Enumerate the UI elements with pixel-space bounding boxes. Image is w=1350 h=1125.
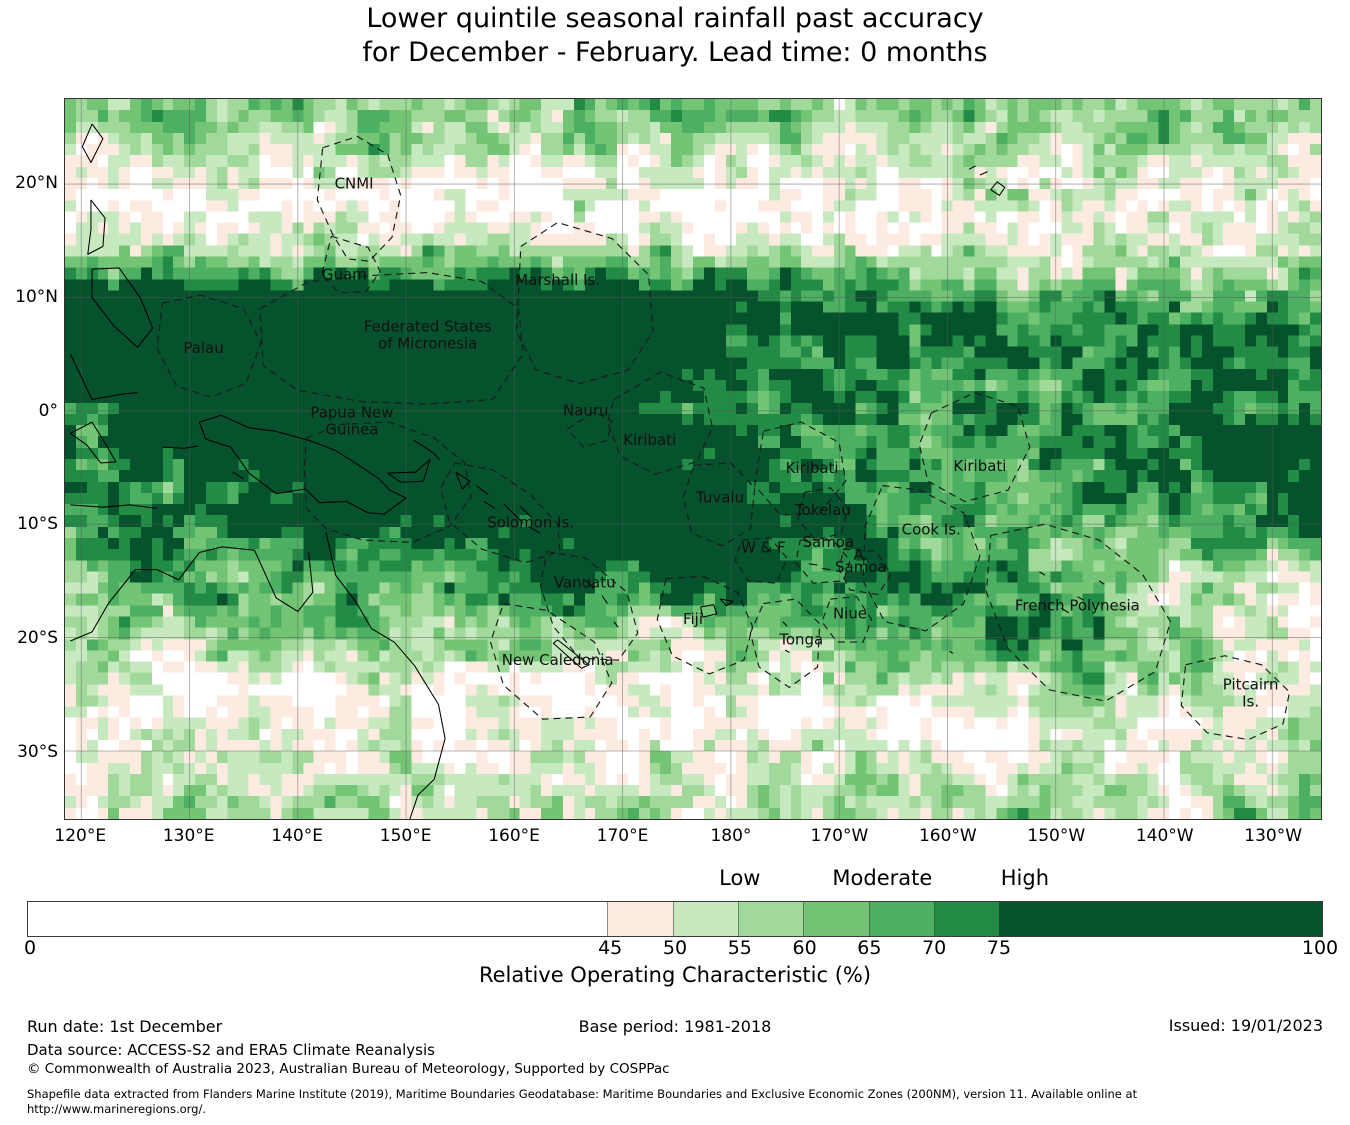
- coastline: [822, 568, 831, 569]
- latitude-tick: 10°S: [0, 516, 58, 533]
- copyright-text: © Commonwealth of Australia 2023, Austra…: [27, 1061, 670, 1077]
- map-place-label: Nauru: [563, 401, 608, 419]
- map-place-label: Kiribati: [623, 431, 676, 449]
- map-place-label: Guam: [322, 265, 367, 283]
- longitude-tick: 150°E: [346, 828, 466, 845]
- coastline: [414, 440, 440, 459]
- longitude-tick: 170°E: [563, 828, 683, 845]
- eez-boundary: [540, 551, 637, 660]
- latitude-tick: 0°: [0, 403, 58, 420]
- longitude-tick: 180°: [671, 828, 791, 845]
- map-place-label: Vanuatu: [554, 574, 616, 592]
- colorbar-segment: [607, 902, 672, 936]
- longitude-tick: 170°W: [779, 828, 899, 845]
- colorbar: [27, 901, 1323, 937]
- map-place-label: Samoa: [835, 558, 887, 576]
- map-place-label: Solomon Is.: [487, 514, 574, 532]
- issued-date-text: Issued: 19/01/2023: [1169, 1016, 1323, 1035]
- coastline: [809, 564, 818, 565]
- longitude-tick: 140°E: [237, 828, 357, 845]
- colorbar-segment: [999, 902, 1322, 936]
- map-place-label: New Caledonia: [502, 651, 614, 669]
- eez-boundary: [516, 223, 652, 384]
- map-place-label: PitcairnIs.: [1223, 676, 1279, 711]
- page-title: Lower quintile seasonal rainfall past ac…: [0, 2, 1350, 70]
- coastline: [701, 605, 717, 617]
- coastline: [980, 172, 988, 175]
- longitude-tick: 160°E: [454, 828, 574, 845]
- shapefile-attribution-text: Shapefile data extracted from Flanders M…: [27, 1087, 1327, 1117]
- coastline: [602, 596, 607, 604]
- map-place-label: Fiji: [683, 610, 703, 628]
- coastline: [476, 486, 488, 495]
- map-place-label: Tonga: [778, 630, 823, 648]
- colorbar-segment: [869, 902, 934, 936]
- map-place-label: Kiribati: [786, 459, 839, 477]
- map-overlay: CNMIGuamPalauMarshall Is.Federated State…: [65, 99, 1321, 819]
- map-plot-area: CNMIGuamPalauMarshall Is.Federated State…: [64, 98, 1322, 820]
- longitude-tick: 160°W: [888, 828, 1008, 845]
- coastline: [70, 422, 116, 463]
- coastline: [388, 460, 430, 483]
- colorbar-tick: 100: [1280, 939, 1350, 958]
- map-place-label: Federated Statesof Micronesia: [364, 317, 492, 352]
- longitude-tick: 140°W: [1105, 828, 1225, 845]
- colorbar-segment: [934, 902, 999, 936]
- map-place-label: Samoa: [803, 533, 855, 551]
- colorbar-segment: [28, 902, 607, 936]
- longitude-tick: 130°E: [129, 828, 249, 845]
- map-place-label: Cook Is.: [902, 520, 961, 538]
- coastline: [614, 622, 618, 628]
- latitude-tick: 20°S: [0, 630, 58, 647]
- colorbar-segment: [738, 902, 803, 936]
- data-source-text: Data source: ACCESS-S2 and ERA5 Climate …: [27, 1041, 435, 1059]
- colorbar-segment: [803, 902, 868, 936]
- longitude-tick: 150°W: [996, 828, 1116, 845]
- latitude-tick: 20°N: [0, 175, 58, 192]
- coastline: [70, 505, 157, 508]
- longitude-tick: 130°W: [1213, 828, 1333, 845]
- map-place-label: Papua NewGuinea: [310, 404, 393, 439]
- coastline: [92, 268, 153, 347]
- coastline: [162, 446, 198, 448]
- latitude-tick: 10°N: [0, 289, 58, 306]
- eez-boundary: [317, 136, 400, 261]
- map-place-label: W & F: [741, 539, 786, 557]
- map-place-label: Niue: [833, 604, 867, 622]
- map-place-label: Tuvalu: [695, 489, 744, 507]
- colorbar-category: High: [915, 868, 1135, 889]
- map-place-label: CNMI: [335, 175, 374, 193]
- colorbar-tick: 0: [0, 939, 70, 958]
- coastline: [969, 166, 975, 169]
- map-place-label: Kiribati: [953, 457, 1006, 475]
- coastline: [950, 651, 953, 653]
- coastline: [1099, 581, 1104, 584]
- coastline: [70, 354, 137, 399]
- colorbar-segment: [673, 902, 738, 936]
- eez-boundary: [657, 576, 752, 674]
- coastline: [233, 472, 244, 479]
- latitude-tick: 30°S: [0, 744, 58, 761]
- colorbar-title: Relative Operating Characteristic (%): [0, 963, 1350, 987]
- colorbar-tick: 75: [959, 939, 1039, 958]
- colorbar-gradient: [27, 901, 1323, 937]
- coastline: [783, 622, 787, 626]
- eez-boundary: [1181, 656, 1289, 740]
- coastline: [456, 472, 470, 489]
- coastline: [82, 124, 103, 163]
- map-place-label: French Polynesia: [1015, 596, 1140, 614]
- base-period-text: Base period: 1981-2018: [0, 1017, 1350, 1036]
- coastline: [326, 532, 445, 819]
- map-place-label: Tokelau: [794, 501, 851, 519]
- coastline: [484, 501, 495, 508]
- map-place-label: Palau: [183, 339, 223, 357]
- longitude-tick: 120°E: [20, 828, 140, 845]
- eez-boundary: [607, 372, 712, 474]
- coastline: [785, 650, 789, 652]
- map-place-label: Marshall Is.: [515, 271, 600, 289]
- coastline: [1039, 572, 1044, 575]
- eez-boundary: [919, 393, 1029, 502]
- coastline: [70, 547, 313, 641]
- coastline: [88, 200, 105, 254]
